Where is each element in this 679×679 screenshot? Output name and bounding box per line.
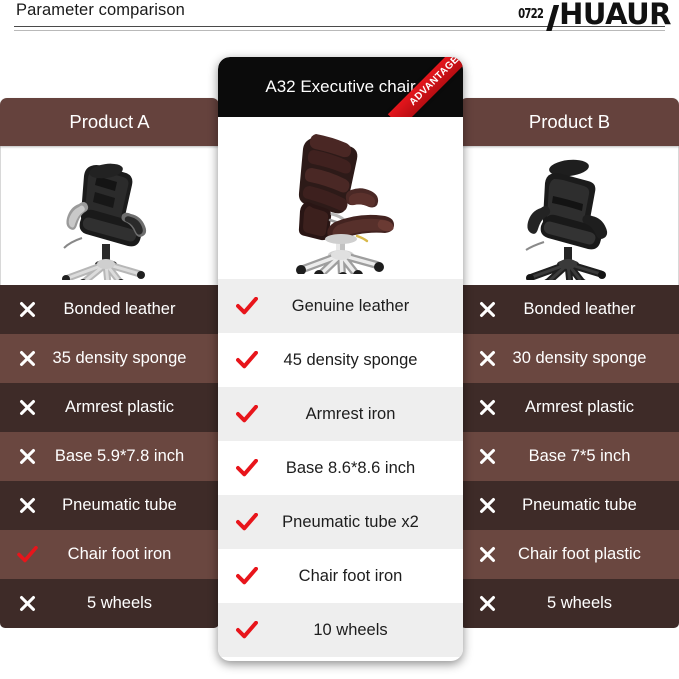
table-row: Base 5.9*7.8 inch: [0, 432, 219, 481]
brand-number: 0722: [518, 7, 543, 22]
table-row: 5 wheels: [0, 579, 219, 628]
table-cell-label: Bonded leather: [40, 300, 219, 319]
check-icon: [234, 567, 260, 585]
table-row: 45 density sponge: [218, 333, 463, 387]
cross-icon: [14, 399, 40, 416]
table-cell-label: Armrest plastic: [500, 398, 679, 417]
table-cell-label: Armrest plastic: [40, 398, 219, 417]
check-icon: [14, 546, 40, 563]
table-cell-label: Pneumatic tube x2: [260, 513, 463, 532]
cross-icon: [474, 448, 500, 465]
table-row: 10 wheels: [218, 603, 463, 657]
table-cell-label: Chair foot plastic: [500, 545, 679, 564]
table-row: Pneumatic tube x2: [218, 495, 463, 549]
cross-icon: [474, 497, 500, 514]
featured-product-title: A32 Executive chair: [265, 77, 415, 97]
cross-icon: [14, 350, 40, 367]
table-row: Pneumatic tube: [460, 481, 679, 530]
table-cell-label: Genuine leather: [260, 297, 463, 316]
table-cell-label: 5 wheels: [40, 594, 219, 613]
cross-icon: [474, 301, 500, 318]
cross-icon: [14, 301, 40, 318]
cross-icon: [14, 497, 40, 514]
table-cell-label: Bonded leather: [500, 300, 679, 319]
table-cell-label: Base 7*5 inch: [500, 447, 679, 466]
check-icon: [234, 351, 260, 369]
check-icon: [234, 459, 260, 477]
chair-illustration-black-silver: [35, 152, 185, 280]
chair-illustration-brown-chrome: [250, 122, 432, 274]
table-row: Genuine leather: [218, 279, 463, 333]
table-cell-label: 10 wheels: [260, 621, 463, 640]
table-cell-label: 5 wheels: [500, 594, 679, 613]
product-b-image: [460, 146, 679, 285]
table-cell-label: Chair foot iron: [40, 545, 219, 564]
product-b-rows: Bonded leather 30 density sponge Armrest…: [460, 285, 679, 628]
check-icon: [234, 621, 260, 639]
table-row: Armrest plastic: [0, 383, 219, 432]
product-b-column: Product B: [460, 98, 679, 628]
table-row: Bonded leather: [0, 285, 219, 334]
chair-illustration-black-black: [495, 152, 645, 280]
table-row: 5 wheels: [460, 579, 679, 628]
cross-icon: [474, 399, 500, 416]
table-cell-label: 35 density sponge: [40, 349, 219, 368]
product-a-column: Product A: [0, 98, 219, 628]
table-row: Base 8.6*8.6 inch: [218, 441, 463, 495]
featured-product-card: A32 Executive chair ADVANTAGES: [218, 57, 463, 661]
table-row: Chair foot iron: [0, 530, 219, 579]
brand-logo: 0722 HUAUR: [511, 0, 671, 28]
check-icon: [234, 405, 260, 423]
table-row: Pneumatic tube: [0, 481, 219, 530]
product-a-rows: Bonded leather 35 density sponge Armrest…: [0, 285, 219, 628]
cross-icon: [14, 595, 40, 612]
table-cell-label: Base 8.6*8.6 inch: [260, 459, 463, 478]
brand-slash-icon: [546, 5, 559, 31]
table-row: Armrest iron: [218, 387, 463, 441]
table-row: Base 7*5 inch: [460, 432, 679, 481]
table-row: Armrest plastic: [460, 383, 679, 432]
featured-product-image: [218, 117, 463, 279]
table-row: Bonded leather: [460, 285, 679, 334]
page-title: Parameter comparison: [16, 1, 185, 20]
featured-card-header: A32 Executive chair ADVANTAGES: [218, 57, 463, 117]
table-cell-label: Pneumatic tube: [500, 496, 679, 515]
check-icon: [234, 513, 260, 531]
table-cell-label: Base 5.9*7.8 inch: [40, 447, 219, 466]
product-b-title: Product B: [460, 98, 679, 146]
brand-name: HUAUR: [559, 0, 671, 29]
cross-icon: [474, 350, 500, 367]
table-cell-label: 45 density sponge: [260, 351, 463, 370]
table-cell-label: Armrest iron: [260, 405, 463, 424]
table-cell-label: 30 density sponge: [500, 349, 679, 368]
table-row: Chair foot plastic: [460, 530, 679, 579]
table-row: 30 density sponge: [460, 334, 679, 383]
table-row: 35 density sponge: [0, 334, 219, 383]
table-cell-label: Chair foot iron: [260, 567, 463, 586]
cross-icon: [474, 546, 500, 563]
page-header: Parameter comparison 0722 HUAUR: [0, 0, 679, 36]
product-a-title: Product A: [0, 98, 219, 146]
table-cell-label: Pneumatic tube: [40, 496, 219, 515]
cross-icon: [14, 448, 40, 465]
product-a-image: [0, 146, 219, 285]
check-icon: [234, 297, 260, 315]
cross-icon: [474, 595, 500, 612]
table-row: Chair foot iron: [218, 549, 463, 603]
